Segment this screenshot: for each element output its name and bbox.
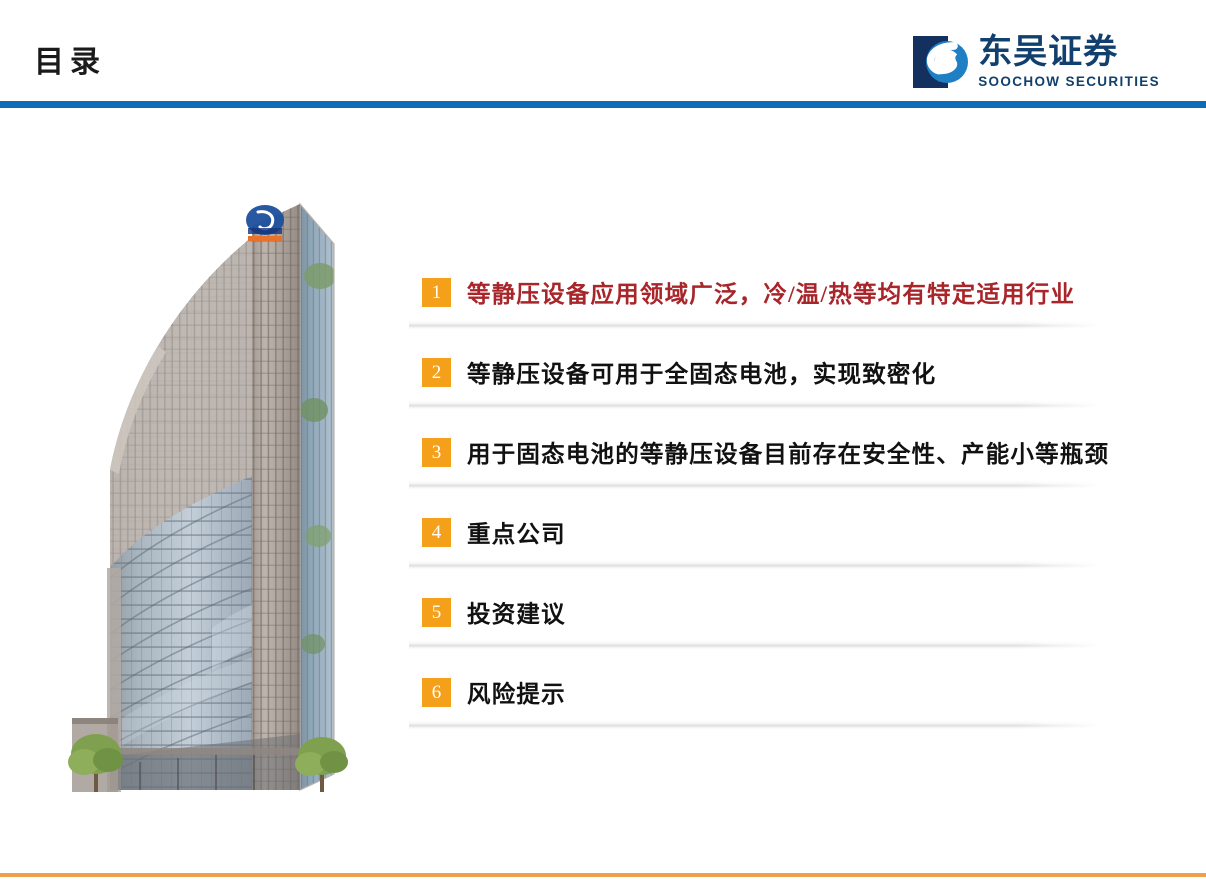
slide-table-of-contents: 目录 东吴证券 SOOCHOW SECURITIES [0,0,1206,882]
toc-separator [409,480,1099,489]
toc-item-label: 等静压设备应用领域广泛，冷/温/热等均有特定适用行业 [467,275,1075,309]
toc-number-badge: 5 [422,598,451,627]
brand-name-cn: 东吴证券 [978,36,1160,70]
toc-item-1[interactable]: 1 等静压设备应用领域广泛，冷/温/热等均有特定适用行业 [409,262,1109,342]
brand-logo: 东吴证券 SOOCHOW SECURITIES [913,36,1160,89]
toc-item-4[interactable]: 4 重点公司 [409,502,1109,582]
toc-item-2[interactable]: 2 等静压设备可用于全固态电池，实现致密化 [409,342,1109,422]
toc-separator [409,320,1099,329]
slide-header: 目录 东吴证券 SOOCHOW SECURITIES [0,0,1206,104]
footer-divider [0,873,1206,877]
toc-item-6[interactable]: 6 风险提示 [409,662,1109,742]
headquarters-building-photo [62,158,362,810]
brand-name-en: SOOCHOW SECURITIES [978,75,1160,89]
header-divider [0,101,1206,108]
toc-separator [409,400,1099,409]
soochow-s-mark-icon [913,36,969,88]
toc-number-badge: 1 [422,278,451,307]
toc-number-badge: 3 [422,438,451,467]
brand-logo-text: 东吴证券 SOOCHOW SECURITIES [978,36,1160,89]
table-of-contents: 1 等静压设备应用领域广泛，冷/温/热等均有特定适用行业 2 等静压设备可用于全… [409,262,1109,742]
toc-item-3[interactable]: 3 用于固态电池的等静压设备目前存在安全性、产能小等瓶颈 [409,422,1109,502]
toc-number-badge: 2 [422,358,451,387]
toc-number-badge: 4 [422,518,451,547]
toc-item-label: 重点公司 [467,515,566,549]
toc-item-5[interactable]: 5 投资建议 [409,582,1109,662]
toc-item-label: 等静压设备可用于全固态电池，实现致密化 [467,355,936,389]
toc-item-label: 用于固态电池的等静压设备目前存在安全性、产能小等瓶颈 [467,435,1109,469]
toc-separator [409,560,1099,569]
toc-item-label: 风险提示 [467,675,566,709]
toc-separator [409,640,1099,649]
toc-separator [409,720,1099,729]
toc-number-badge: 6 [422,678,451,707]
page-title: 目录 [34,48,106,78]
toc-item-label: 投资建议 [467,595,566,629]
